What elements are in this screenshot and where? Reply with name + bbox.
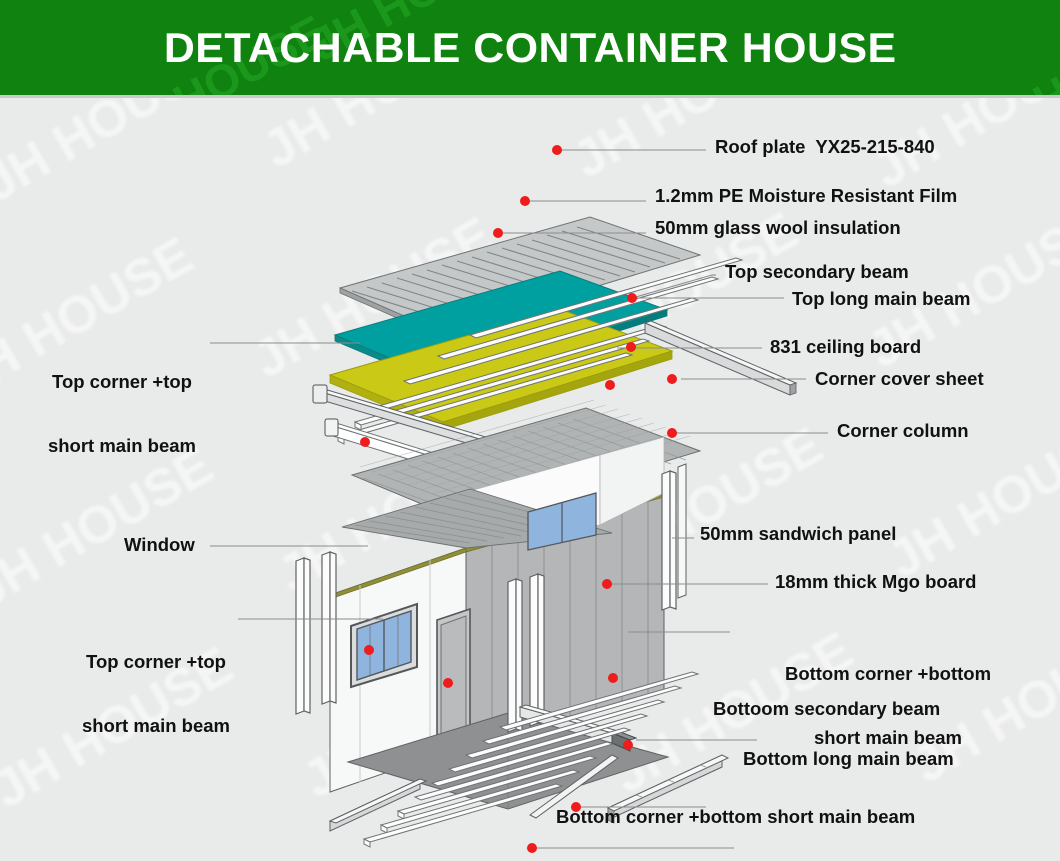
marker-window [364, 645, 374, 655]
marker-mgo-board [608, 673, 618, 683]
callout-top-corner-short-main-beam-2: Top corner +top short main beam [56, 608, 256, 780]
callout-line: short main beam [22, 435, 222, 456]
callout-ceiling-board: 831 ceiling board [770, 336, 921, 357]
diagram-page: JH HOUSE JH HOUSE JH HOUSE JH HOUSE DETA… [0, 0, 1060, 861]
callout-bottom-secondary-beam: Bottoom secondary beam [713, 698, 940, 719]
marker-top-corner-1 [360, 437, 370, 447]
callout-line: Top corner +top [22, 371, 222, 392]
marker-corner-cover-sheet [667, 374, 677, 384]
callout-bottom-corner-short-main-beam-2: Bottom corner +bottom short main beam [556, 806, 915, 827]
callout-roof-plate: Roof plate YX25-215-840 [715, 136, 935, 157]
callout-line: short main beam [56, 715, 256, 736]
callout-pe-film: 1.2mm PE Moisture Resistant Film [655, 185, 957, 206]
marker-pe-film [520, 196, 530, 206]
marker-corner-column [667, 428, 677, 438]
marker-ceiling [605, 380, 615, 390]
callout-top-corner-short-main-beam-1: Top corner +top short main beam [22, 328, 222, 500]
callout-corner-cover-sheet: Corner cover sheet [815, 368, 984, 389]
callout-corner-column: Corner column [837, 420, 969, 441]
callout-bottom-long-main-beam: Bottom long main beam [743, 748, 954, 769]
marker-door [443, 678, 453, 688]
page-header: JH HOUSE JH HOUSE JH HOUSE JH HOUSE DETA… [0, 0, 1060, 95]
callout-line: short main beam [736, 727, 1040, 748]
marker-top-secondary-beam [627, 293, 637, 303]
marker-bottom-long-main-beam [527, 843, 537, 853]
callout-top-long-main-beam: Top long main beam [792, 288, 971, 309]
callout-sandwich-panel: 50mm sandwich panel [700, 523, 896, 544]
callout-mgo-board: 18mm thick Mgo board [775, 571, 976, 592]
marker-glass-wool [493, 228, 503, 238]
marker-roof-plate [552, 145, 562, 155]
callout-glass-wool: 50mm glass wool insulation [655, 217, 901, 238]
marker-bottom-corner-1 [623, 740, 633, 750]
callout-line: Bottom corner +bottom [736, 663, 1040, 684]
marker-top-longbeam [626, 342, 636, 352]
callout-window: Window [124, 534, 195, 555]
header-watermark-4: JH HOUSE [961, 4, 1060, 95]
corner-cover-sheet [678, 464, 686, 598]
callout-top-secondary-beam: Top secondary beam [725, 261, 909, 282]
callout-line: Top corner +top [56, 651, 256, 672]
marker-sandwich-panel [602, 579, 612, 589]
container-body [330, 437, 668, 809]
page-title: DETACHABLE CONTAINER HOUSE [164, 24, 897, 72]
